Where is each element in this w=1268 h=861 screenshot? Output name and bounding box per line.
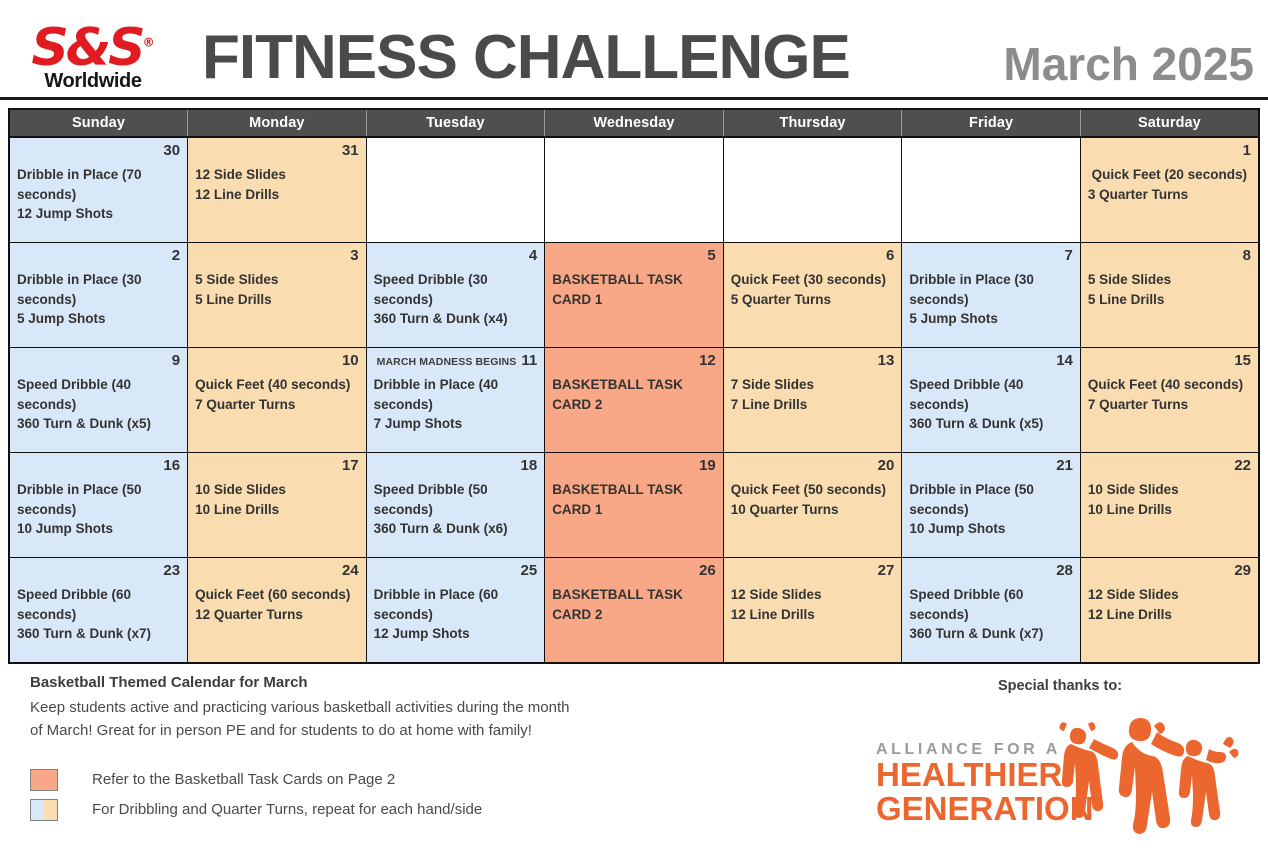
day-cell-4[interactable]: 4Speed Dribble (30 seconds)360 Turn & Du… xyxy=(367,243,545,347)
day-cell-top: MARCH MADNESS BEGINS11 xyxy=(374,353,538,372)
day-number: 18 xyxy=(521,458,538,473)
day-number: 29 xyxy=(1234,563,1251,578)
calendar-grid: SundayMondayTuesdayWednesdayThursdayFrid… xyxy=(8,108,1260,664)
day-activities: Dribble in Place (40 seconds)7 Jump Shot… xyxy=(374,375,538,434)
day-activities: Quick Feet (30 seconds)5 Quarter Turns xyxy=(731,270,895,309)
day-number: 16 xyxy=(163,458,180,473)
legend-swatch-split xyxy=(30,799,58,821)
activity-item: Speed Dribble (60 seconds) xyxy=(17,585,180,624)
calendar-cell: 2912 Side Slides12 Line Drills xyxy=(1080,558,1259,664)
legend-item-repeat: For Dribbling and Quarter Turns, repeat … xyxy=(30,795,860,825)
calendar-cell: 2Dribble in Place (30 seconds)5 Jump Sho… xyxy=(9,243,188,348)
activity-item: 12 Quarter Turns xyxy=(195,605,359,625)
day-cell-top: 3 xyxy=(195,248,359,267)
day-number: 15 xyxy=(1234,353,1251,368)
activity-item: Quick Feet (40 seconds) xyxy=(195,375,359,395)
weekday-header-monday: Monday xyxy=(188,109,367,137)
day-number: 30 xyxy=(163,143,180,158)
day-activities: 5 Side Slides5 Line Drills xyxy=(1088,270,1251,309)
day-activities: Speed Dribble (60 seconds)360 Turn & Dun… xyxy=(17,585,180,644)
day-cell-top: 14 xyxy=(909,353,1073,372)
day-activities: Speed Dribble (40 seconds)360 Turn & Dun… xyxy=(17,375,180,434)
calendar-cell: 23Speed Dribble (60 seconds)360 Turn & D… xyxy=(9,558,188,664)
footer-description-block: Basketball Themed Calendar for March Kee… xyxy=(8,674,860,852)
calendar-cell: 25Dribble in Place (60 seconds)12 Jump S… xyxy=(366,558,545,664)
activity-item: 5 Side Slides xyxy=(1088,270,1251,290)
calendar-cell: 6Quick Feet (30 seconds)5 Quarter Turns xyxy=(723,243,902,348)
day-note: MARCH MADNESS BEGINS xyxy=(377,356,517,368)
day-activities: Dribble in Place (30 seconds)5 Jump Shot… xyxy=(909,270,1073,329)
day-cell-7[interactable]: 7Dribble in Place (30 seconds)5 Jump Sho… xyxy=(902,243,1080,347)
activity-item: 10 Line Drills xyxy=(195,500,359,520)
day-activities: BASKETBALL TASK CARD 1 xyxy=(552,480,716,519)
day-number: 9 xyxy=(172,353,180,368)
day-cell-top: 10 xyxy=(195,353,359,372)
weekday-header-sunday: Sunday xyxy=(9,109,188,137)
activity-item: Dribble in Place (50 seconds) xyxy=(17,480,180,519)
activity-item: BASKETBALL TASK CARD 2 xyxy=(552,585,716,624)
day-cell-top: 25 xyxy=(374,563,538,582)
calendar-week-row: 30Dribble in Place (70 seconds)12 Jump S… xyxy=(9,137,1259,243)
day-cell-12[interactable]: 12BASKETBALL TASK CARD 2 xyxy=(545,348,723,452)
weekday-header-row: SundayMondayTuesdayWednesdayThursdayFrid… xyxy=(9,109,1259,137)
calendar-cell: MARCH MADNESS BEGINS11Dribble in Place (… xyxy=(366,348,545,453)
day-cell-top: 4 xyxy=(374,248,538,267)
footer-body-line-2: of March! Great for in person PE and for… xyxy=(30,719,860,742)
activity-item: Dribble in Place (30 seconds) xyxy=(909,270,1073,309)
day-number: 22 xyxy=(1234,458,1251,473)
activity-item: Quick Feet (30 seconds) xyxy=(731,270,895,290)
activity-item: 5 Jump Shots xyxy=(909,309,1073,329)
day-cell-6[interactable]: 6Quick Feet (30 seconds)5 Quarter Turns xyxy=(724,243,902,347)
day-cell-top: 15 xyxy=(1088,353,1251,372)
ss-logo-mark: S&S® xyxy=(31,25,154,73)
day-cell-5[interactable]: 5BASKETBALL TASK CARD 1 xyxy=(545,243,723,347)
activity-item: 7 Quarter Turns xyxy=(1088,395,1251,415)
day-cell-3[interactable]: 35 Side Slides5 Line Drills xyxy=(188,243,366,347)
day-cell-25[interactable]: 25Dribble in Place (60 seconds)12 Jump S… xyxy=(367,558,545,662)
calendar-week-row: 23Speed Dribble (60 seconds)360 Turn & D… xyxy=(9,558,1259,664)
day-number: 5 xyxy=(707,248,715,263)
activity-item: 10 Side Slides xyxy=(1088,480,1251,500)
day-cell-31[interactable]: 3112 Side Slides12 Line Drills xyxy=(188,138,366,242)
day-number: 25 xyxy=(521,563,538,578)
day-cell-8[interactable]: 85 Side Slides5 Line Drills xyxy=(1081,243,1258,347)
day-activities: Quick Feet (50 seconds)10 Quarter Turns xyxy=(731,480,895,519)
day-cell-11[interactable]: MARCH MADNESS BEGINS11Dribble in Place (… xyxy=(367,348,545,452)
day-number: 20 xyxy=(878,458,895,473)
activity-item: BASKETBALL TASK CARD 2 xyxy=(552,375,716,414)
day-cell-top: 28 xyxy=(909,563,1073,582)
activity-item: Dribble in Place (60 seconds) xyxy=(374,585,538,624)
activity-item: 5 Line Drills xyxy=(1088,290,1251,310)
activity-item: Quick Feet (20 seconds) xyxy=(1088,165,1251,185)
activity-item: 12 Jump Shots xyxy=(17,204,180,224)
day-cell-27[interactable]: 2712 Side Slides12 Line Drills xyxy=(724,558,902,662)
calendar-cell: 15Quick Feet (40 seconds)7 Quarter Turns xyxy=(1080,348,1259,453)
day-cell-14[interactable]: 14Speed Dribble (40 seconds)360 Turn & D… xyxy=(902,348,1080,452)
day-number: 23 xyxy=(163,563,180,578)
calendar-header-row: SundayMondayTuesdayWednesdayThursdayFrid… xyxy=(9,109,1259,137)
activity-item: 10 Quarter Turns xyxy=(731,500,895,520)
calendar-cell: 7Dribble in Place (30 seconds)5 Jump Sho… xyxy=(902,243,1081,348)
day-activities: 7 Side Slides7 Line Drills xyxy=(731,375,895,414)
day-activities: Quick Feet (40 seconds)7 Quarter Turns xyxy=(1088,375,1251,414)
calendar-cell xyxy=(902,137,1081,243)
calendar-cell: 14Speed Dribble (40 seconds)360 Turn & D… xyxy=(902,348,1081,453)
day-activities: Speed Dribble (60 seconds)360 Turn & Dun… xyxy=(909,585,1073,644)
calendar-cell: 30Dribble in Place (70 seconds)12 Jump S… xyxy=(9,137,188,243)
day-cell-top: 26 xyxy=(552,563,716,582)
running-figures-icon xyxy=(1055,714,1255,839)
activity-item: Speed Dribble (50 seconds) xyxy=(374,480,538,519)
day-activities: BASKETBALL TASK CARD 2 xyxy=(552,585,716,624)
day-cell-2[interactable]: 2Dribble in Place (30 seconds)5 Jump Sho… xyxy=(10,243,187,347)
day-activities: Speed Dribble (40 seconds)360 Turn & Dun… xyxy=(909,375,1073,434)
calendar-cell: 2210 Side Slides10 Line Drills xyxy=(1080,453,1259,558)
day-cell-15[interactable]: 15Quick Feet (40 seconds)7 Quarter Turns xyxy=(1081,348,1258,452)
day-number: 27 xyxy=(878,563,895,578)
activity-item: Speed Dribble (40 seconds) xyxy=(17,375,180,414)
day-cell-top xyxy=(552,143,716,162)
day-cell-empty xyxy=(724,138,902,242)
day-cell-1[interactable]: 1 Quick Feet (20 seconds)3 Quarter Turns xyxy=(1081,138,1258,242)
activity-item: 5 Quarter Turns xyxy=(731,290,895,310)
weekday-header-friday: Friday xyxy=(902,109,1081,137)
day-activities: 5 Side Slides5 Line Drills xyxy=(195,270,359,309)
day-cell-30[interactable]: 30Dribble in Place (70 seconds)12 Jump S… xyxy=(10,138,187,242)
day-number: 11 xyxy=(521,353,537,368)
day-cell-top: 22 xyxy=(1088,458,1251,477)
day-activities: BASKETBALL TASK CARD 1 xyxy=(552,270,716,309)
activity-item: 360 Turn & Dunk (x7) xyxy=(909,624,1073,644)
day-number: 31 xyxy=(342,143,359,158)
activity-item: 5 Jump Shots xyxy=(17,309,180,329)
weekday-header-thursday: Thursday xyxy=(723,109,902,137)
day-cell-top: 24 xyxy=(195,563,359,582)
calendar-cell: 3112 Side Slides12 Line Drills xyxy=(188,137,367,243)
day-cell-top xyxy=(731,143,895,162)
activity-item: 360 Turn & Dunk (x7) xyxy=(17,624,180,644)
activity-item: 12 Line Drills xyxy=(731,605,895,625)
activity-item: Dribble in Place (50 seconds) xyxy=(909,480,1073,519)
weekday-header-tuesday: Tuesday xyxy=(366,109,545,137)
calendar-cell: 12BASKETBALL TASK CARD 2 xyxy=(545,348,724,453)
day-activities: 12 Side Slides12 Line Drills xyxy=(731,585,895,624)
day-activities: 12 Side Slides12 Line Drills xyxy=(195,165,359,204)
legend-label-repeat: For Dribbling and Quarter Turns, repeat … xyxy=(92,801,482,818)
activity-item: Speed Dribble (40 seconds) xyxy=(909,375,1073,414)
activity-item: Speed Dribble (60 seconds) xyxy=(909,585,1073,624)
calendar-cell: 10Quick Feet (40 seconds)7 Quarter Turns xyxy=(188,348,367,453)
activity-item: 12 Side Slides xyxy=(731,585,895,605)
calendar-cell: 16Dribble in Place (50 seconds)10 Jump S… xyxy=(9,453,188,558)
day-cell-9[interactable]: 9Speed Dribble (40 seconds)360 Turn & Du… xyxy=(10,348,187,452)
activity-item: 10 Jump Shots xyxy=(17,519,180,539)
registered-trademark-icon: ® xyxy=(143,36,155,50)
day-cell-top: 30 xyxy=(17,143,180,162)
activity-item: 360 Turn & Dunk (x5) xyxy=(909,414,1073,434)
day-number: 14 xyxy=(1056,353,1073,368)
activity-item: BASKETBALL TASK CARD 1 xyxy=(552,270,716,309)
day-cell-20[interactable]: 20Quick Feet (50 seconds)10 Quarter Turn… xyxy=(724,453,902,557)
ss-logo-text: S&S xyxy=(31,18,142,78)
activity-item: 10 Jump Shots xyxy=(909,519,1073,539)
calendar-cell xyxy=(366,137,545,243)
footer-body: Keep students active and practicing vari… xyxy=(30,696,860,743)
activity-item: 12 Line Drills xyxy=(1088,605,1251,625)
page-title: FITNESS CHALLENGE xyxy=(168,27,1003,97)
page-header: S&S® Worldwide FITNESS CHALLENGE March 2… xyxy=(0,0,1268,100)
calendar-cell xyxy=(545,137,724,243)
weekday-header-wednesday: Wednesday xyxy=(545,109,724,137)
activity-item: 10 Side Slides xyxy=(195,480,359,500)
day-number: 13 xyxy=(878,353,895,368)
day-cell-top: 16 xyxy=(17,458,180,477)
activity-item: 5 Side Slides xyxy=(195,270,359,290)
calendar-cell: 1 Quick Feet (20 seconds)3 Quarter Turns xyxy=(1080,137,1259,243)
day-activities: Quick Feet (60 seconds)12 Quarter Turns xyxy=(195,585,359,624)
day-activities: Quick Feet (20 seconds)3 Quarter Turns xyxy=(1088,165,1251,204)
day-cell-top: 27 xyxy=(731,563,895,582)
day-activities: 10 Side Slides10 Line Drills xyxy=(195,480,359,519)
calendar-cell: 28Speed Dribble (60 seconds)360 Turn & D… xyxy=(902,558,1081,664)
day-cell-top: 17 xyxy=(195,458,359,477)
day-cell-empty xyxy=(545,138,723,242)
day-activities: Dribble in Place (30 seconds)5 Jump Shot… xyxy=(17,270,180,329)
legend-item-task-cards: Refer to the Basketball Task Cards on Pa… xyxy=(30,765,860,795)
day-activities: Dribble in Place (60 seconds)12 Jump Sho… xyxy=(374,585,538,644)
calendar-cell: 85 Side Slides5 Line Drills xyxy=(1080,243,1259,348)
day-cell-26[interactable]: 26BASKETBALL TASK CARD 2 xyxy=(545,558,723,662)
day-number: 17 xyxy=(342,458,359,473)
day-cell-23[interactable]: 23Speed Dribble (60 seconds)360 Turn & D… xyxy=(10,558,187,662)
day-cell-top xyxy=(374,143,538,162)
day-cell-top: 9 xyxy=(17,353,180,372)
ss-worldwide-logo: S&S® Worldwide xyxy=(18,25,168,97)
activity-item: 7 Side Slides xyxy=(731,375,895,395)
day-cell-top: 18 xyxy=(374,458,538,477)
day-number: 10 xyxy=(342,353,359,368)
day-cell-top: 29 xyxy=(1088,563,1251,582)
activity-item: Quick Feet (60 seconds) xyxy=(195,585,359,605)
calendar-body: 30Dribble in Place (70 seconds)12 Jump S… xyxy=(9,137,1259,663)
day-activities: Speed Dribble (30 seconds)360 Turn & Dun… xyxy=(374,270,538,329)
activity-item: 360 Turn & Dunk (x5) xyxy=(17,414,180,434)
calendar-cell: 24Quick Feet (60 seconds)12 Quarter Turn… xyxy=(188,558,367,664)
activity-item: 5 Line Drills xyxy=(195,290,359,310)
calendar-cell: 35 Side Slides5 Line Drills xyxy=(188,243,367,348)
day-activities: BASKETBALL TASK CARD 2 xyxy=(552,375,716,414)
alliance-healthier-generation-logo: ALLIANCE FOR A HEALTHIER GENERATION xyxy=(870,714,1260,844)
activity-item: Quick Feet (50 seconds) xyxy=(731,480,895,500)
activity-item: 7 Jump Shots xyxy=(374,414,538,434)
day-number: 2 xyxy=(172,248,180,263)
activity-item: Dribble in Place (30 seconds) xyxy=(17,270,180,309)
activity-item: Dribble in Place (70 seconds) xyxy=(17,165,180,204)
day-activities: Dribble in Place (50 seconds)10 Jump Sho… xyxy=(909,480,1073,539)
activity-item: Dribble in Place (40 seconds) xyxy=(374,375,538,414)
day-number: 4 xyxy=(529,248,537,263)
day-cell-22[interactable]: 2210 Side Slides10 Line Drills xyxy=(1081,453,1258,557)
footer-title: Basketball Themed Calendar for March xyxy=(30,674,860,691)
special-thanks-label: Special thanks to: xyxy=(860,678,1260,694)
day-cell-empty xyxy=(902,138,1080,242)
day-cell-top: 7 xyxy=(909,248,1073,267)
day-cell-19[interactable]: 19BASKETBALL TASK CARD 1 xyxy=(545,453,723,557)
day-cell-21[interactable]: 21Dribble in Place (50 seconds)10 Jump S… xyxy=(902,453,1080,557)
day-number: 19 xyxy=(699,458,716,473)
calendar-cell: 20Quick Feet (50 seconds)10 Quarter Turn… xyxy=(723,453,902,558)
day-activities: Dribble in Place (70 seconds)12 Jump Sho… xyxy=(17,165,180,224)
day-cell-top: 12 xyxy=(552,353,716,372)
day-cell-top xyxy=(909,143,1073,162)
day-cell-10[interactable]: 10Quick Feet (40 seconds)7 Quarter Turns xyxy=(188,348,366,452)
day-cell-top: 19 xyxy=(552,458,716,477)
legend-swatch-peach xyxy=(30,769,58,791)
day-number: 7 xyxy=(1065,248,1073,263)
partner-credit-block: Special thanks to: ALLIANCE FOR A HEALTH… xyxy=(860,674,1260,852)
activity-item: Quick Feet (40 seconds) xyxy=(1088,375,1251,395)
day-cell-top: 6 xyxy=(731,248,895,267)
day-number: 1 xyxy=(1243,143,1251,158)
day-number: 21 xyxy=(1056,458,1073,473)
footer-body-line-1: Keep students active and practicing vari… xyxy=(30,696,860,719)
day-cell-17[interactable]: 1710 Side Slides10 Line Drills xyxy=(188,453,366,557)
calendar-cell: 1710 Side Slides10 Line Drills xyxy=(188,453,367,558)
day-activities: 12 Side Slides12 Line Drills xyxy=(1088,585,1251,624)
day-activities: Speed Dribble (50 seconds)360 Turn & Dun… xyxy=(374,480,538,539)
legend-swatch-half-blue xyxy=(31,800,44,820)
activity-item: 360 Turn & Dunk (x6) xyxy=(374,519,538,539)
day-cell-24[interactable]: 24Quick Feet (60 seconds)12 Quarter Turn… xyxy=(188,558,366,662)
day-cell-top: 2 xyxy=(17,248,180,267)
day-cell-13[interactable]: 137 Side Slides7 Line Drills xyxy=(724,348,902,452)
calendar-cell: 137 Side Slides7 Line Drills xyxy=(723,348,902,453)
month-year-title: March 2025 xyxy=(1003,41,1254,97)
activity-item: 12 Side Slides xyxy=(1088,585,1251,605)
day-cell-top: 20 xyxy=(731,458,895,477)
calendar-week-row: 16Dribble in Place (50 seconds)10 Jump S… xyxy=(9,453,1259,558)
day-cell-top: 5 xyxy=(552,248,716,267)
legend-label-task-cards: Refer to the Basketball Task Cards on Pa… xyxy=(92,771,395,788)
day-cell-top: 1 xyxy=(1088,143,1251,162)
day-cell-top: 21 xyxy=(909,458,1073,477)
activity-item: BASKETBALL TASK CARD 1 xyxy=(552,480,716,519)
calendar-cell: 9Speed Dribble (40 seconds)360 Turn & Du… xyxy=(9,348,188,453)
activity-item: Speed Dribble (30 seconds) xyxy=(374,270,538,309)
day-cell-top: 8 xyxy=(1088,248,1251,267)
calendar-cell: 4Speed Dribble (30 seconds)360 Turn & Du… xyxy=(366,243,545,348)
day-number: 3 xyxy=(350,248,358,263)
day-cell-top: 31 xyxy=(195,143,359,162)
calendar-cell: 21Dribble in Place (50 seconds)10 Jump S… xyxy=(902,453,1081,558)
day-cell-top: 23 xyxy=(17,563,180,582)
day-number: 24 xyxy=(342,563,359,578)
calendar-cell: 19BASKETBALL TASK CARD 1 xyxy=(545,453,724,558)
day-number: 6 xyxy=(886,248,894,263)
legend: Refer to the Basketball Task Cards on Pa… xyxy=(30,765,860,825)
activity-item: 12 Jump Shots xyxy=(374,624,538,644)
day-activities: Dribble in Place (50 seconds)10 Jump Sho… xyxy=(17,480,180,539)
calendar-cell: 18Speed Dribble (50 seconds)360 Turn & D… xyxy=(366,453,545,558)
calendar-cell: 26BASKETBALL TASK CARD 2 xyxy=(545,558,724,664)
day-cell-16[interactable]: 16Dribble in Place (50 seconds)10 Jump S… xyxy=(10,453,187,557)
activity-item: 12 Line Drills xyxy=(195,185,359,205)
day-activities: Quick Feet (40 seconds)7 Quarter Turns xyxy=(195,375,359,414)
weekday-header-saturday: Saturday xyxy=(1080,109,1259,137)
day-number: 26 xyxy=(699,563,716,578)
activity-item: 7 Line Drills xyxy=(731,395,895,415)
legend-swatch-half-tan xyxy=(44,800,57,820)
day-cell-29[interactable]: 2912 Side Slides12 Line Drills xyxy=(1081,558,1258,662)
activity-item: 360 Turn & Dunk (x4) xyxy=(374,309,538,329)
calendar-week-row: 2Dribble in Place (30 seconds)5 Jump Sho… xyxy=(9,243,1259,348)
day-cell-28[interactable]: 28Speed Dribble (60 seconds)360 Turn & D… xyxy=(902,558,1080,662)
activity-item: 3 Quarter Turns xyxy=(1088,185,1251,205)
activity-item: 10 Line Drills xyxy=(1088,500,1251,520)
calendar-cell: 5BASKETBALL TASK CARD 1 xyxy=(545,243,724,348)
day-cell-empty xyxy=(367,138,545,242)
day-number: 28 xyxy=(1056,563,1073,578)
page-footer: Basketball Themed Calendar for March Kee… xyxy=(8,674,1260,852)
day-number: 8 xyxy=(1243,248,1251,263)
day-number: 12 xyxy=(699,353,716,368)
day-cell-18[interactable]: 18Speed Dribble (50 seconds)360 Turn & D… xyxy=(367,453,545,557)
day-activities: 10 Side Slides10 Line Drills xyxy=(1088,480,1251,519)
calendar-week-row: 9Speed Dribble (40 seconds)360 Turn & Du… xyxy=(9,348,1259,453)
calendar-cell xyxy=(723,137,902,243)
day-cell-top: 13 xyxy=(731,353,895,372)
activity-item: 12 Side Slides xyxy=(195,165,359,185)
activity-item: 7 Quarter Turns xyxy=(195,395,359,415)
calendar-cell: 2712 Side Slides12 Line Drills xyxy=(723,558,902,664)
